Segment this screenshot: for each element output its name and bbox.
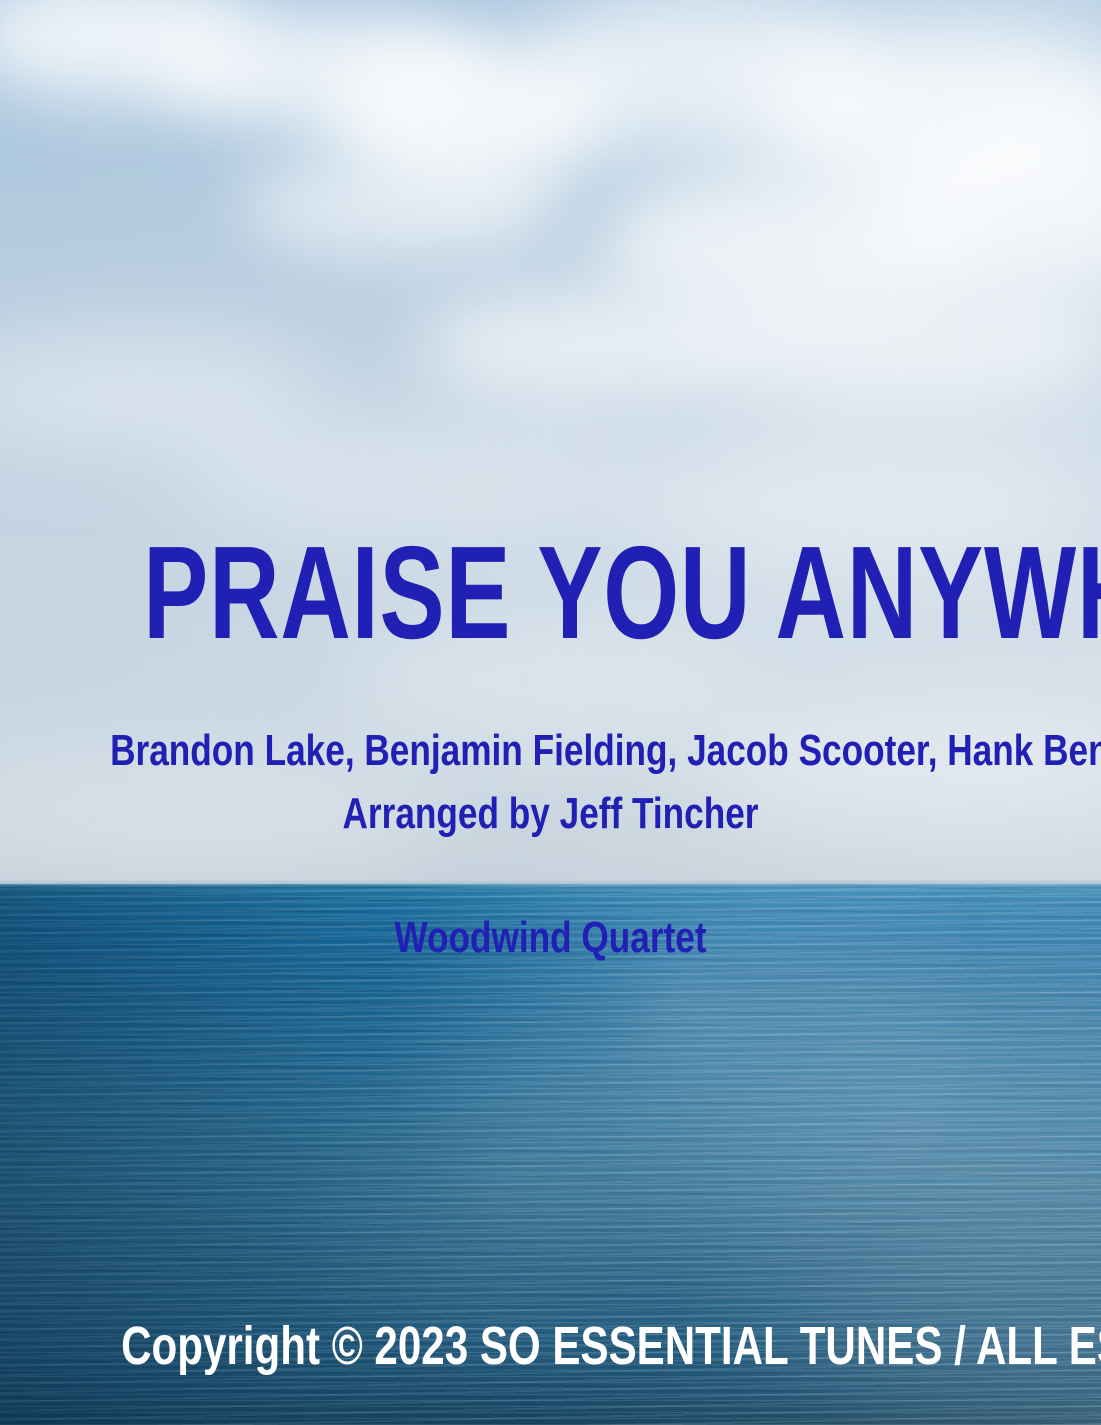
copyright-notice: Copyright © 2023 SO ESSENTIAL TUNES / AL…: [121, 1316, 980, 1376]
cover-text-layer: PRAISE YOU ANYWHERE Brandon Lake, Benjam…: [0, 0, 1101, 1425]
page-title: PRAISE YOU ANYWHERE: [143, 527, 958, 659]
sheet-music-cover: PRAISE YOU ANYWHERE Brandon Lake, Benjam…: [0, 0, 1101, 1425]
composer-credit: Brandon Lake, Benjamin Fielding, Jacob S…: [110, 726, 991, 776]
instrumentation-label: Woodwind Quartet: [110, 913, 991, 963]
arranger-credit: Arranged by Jeff Tincher: [110, 789, 991, 839]
